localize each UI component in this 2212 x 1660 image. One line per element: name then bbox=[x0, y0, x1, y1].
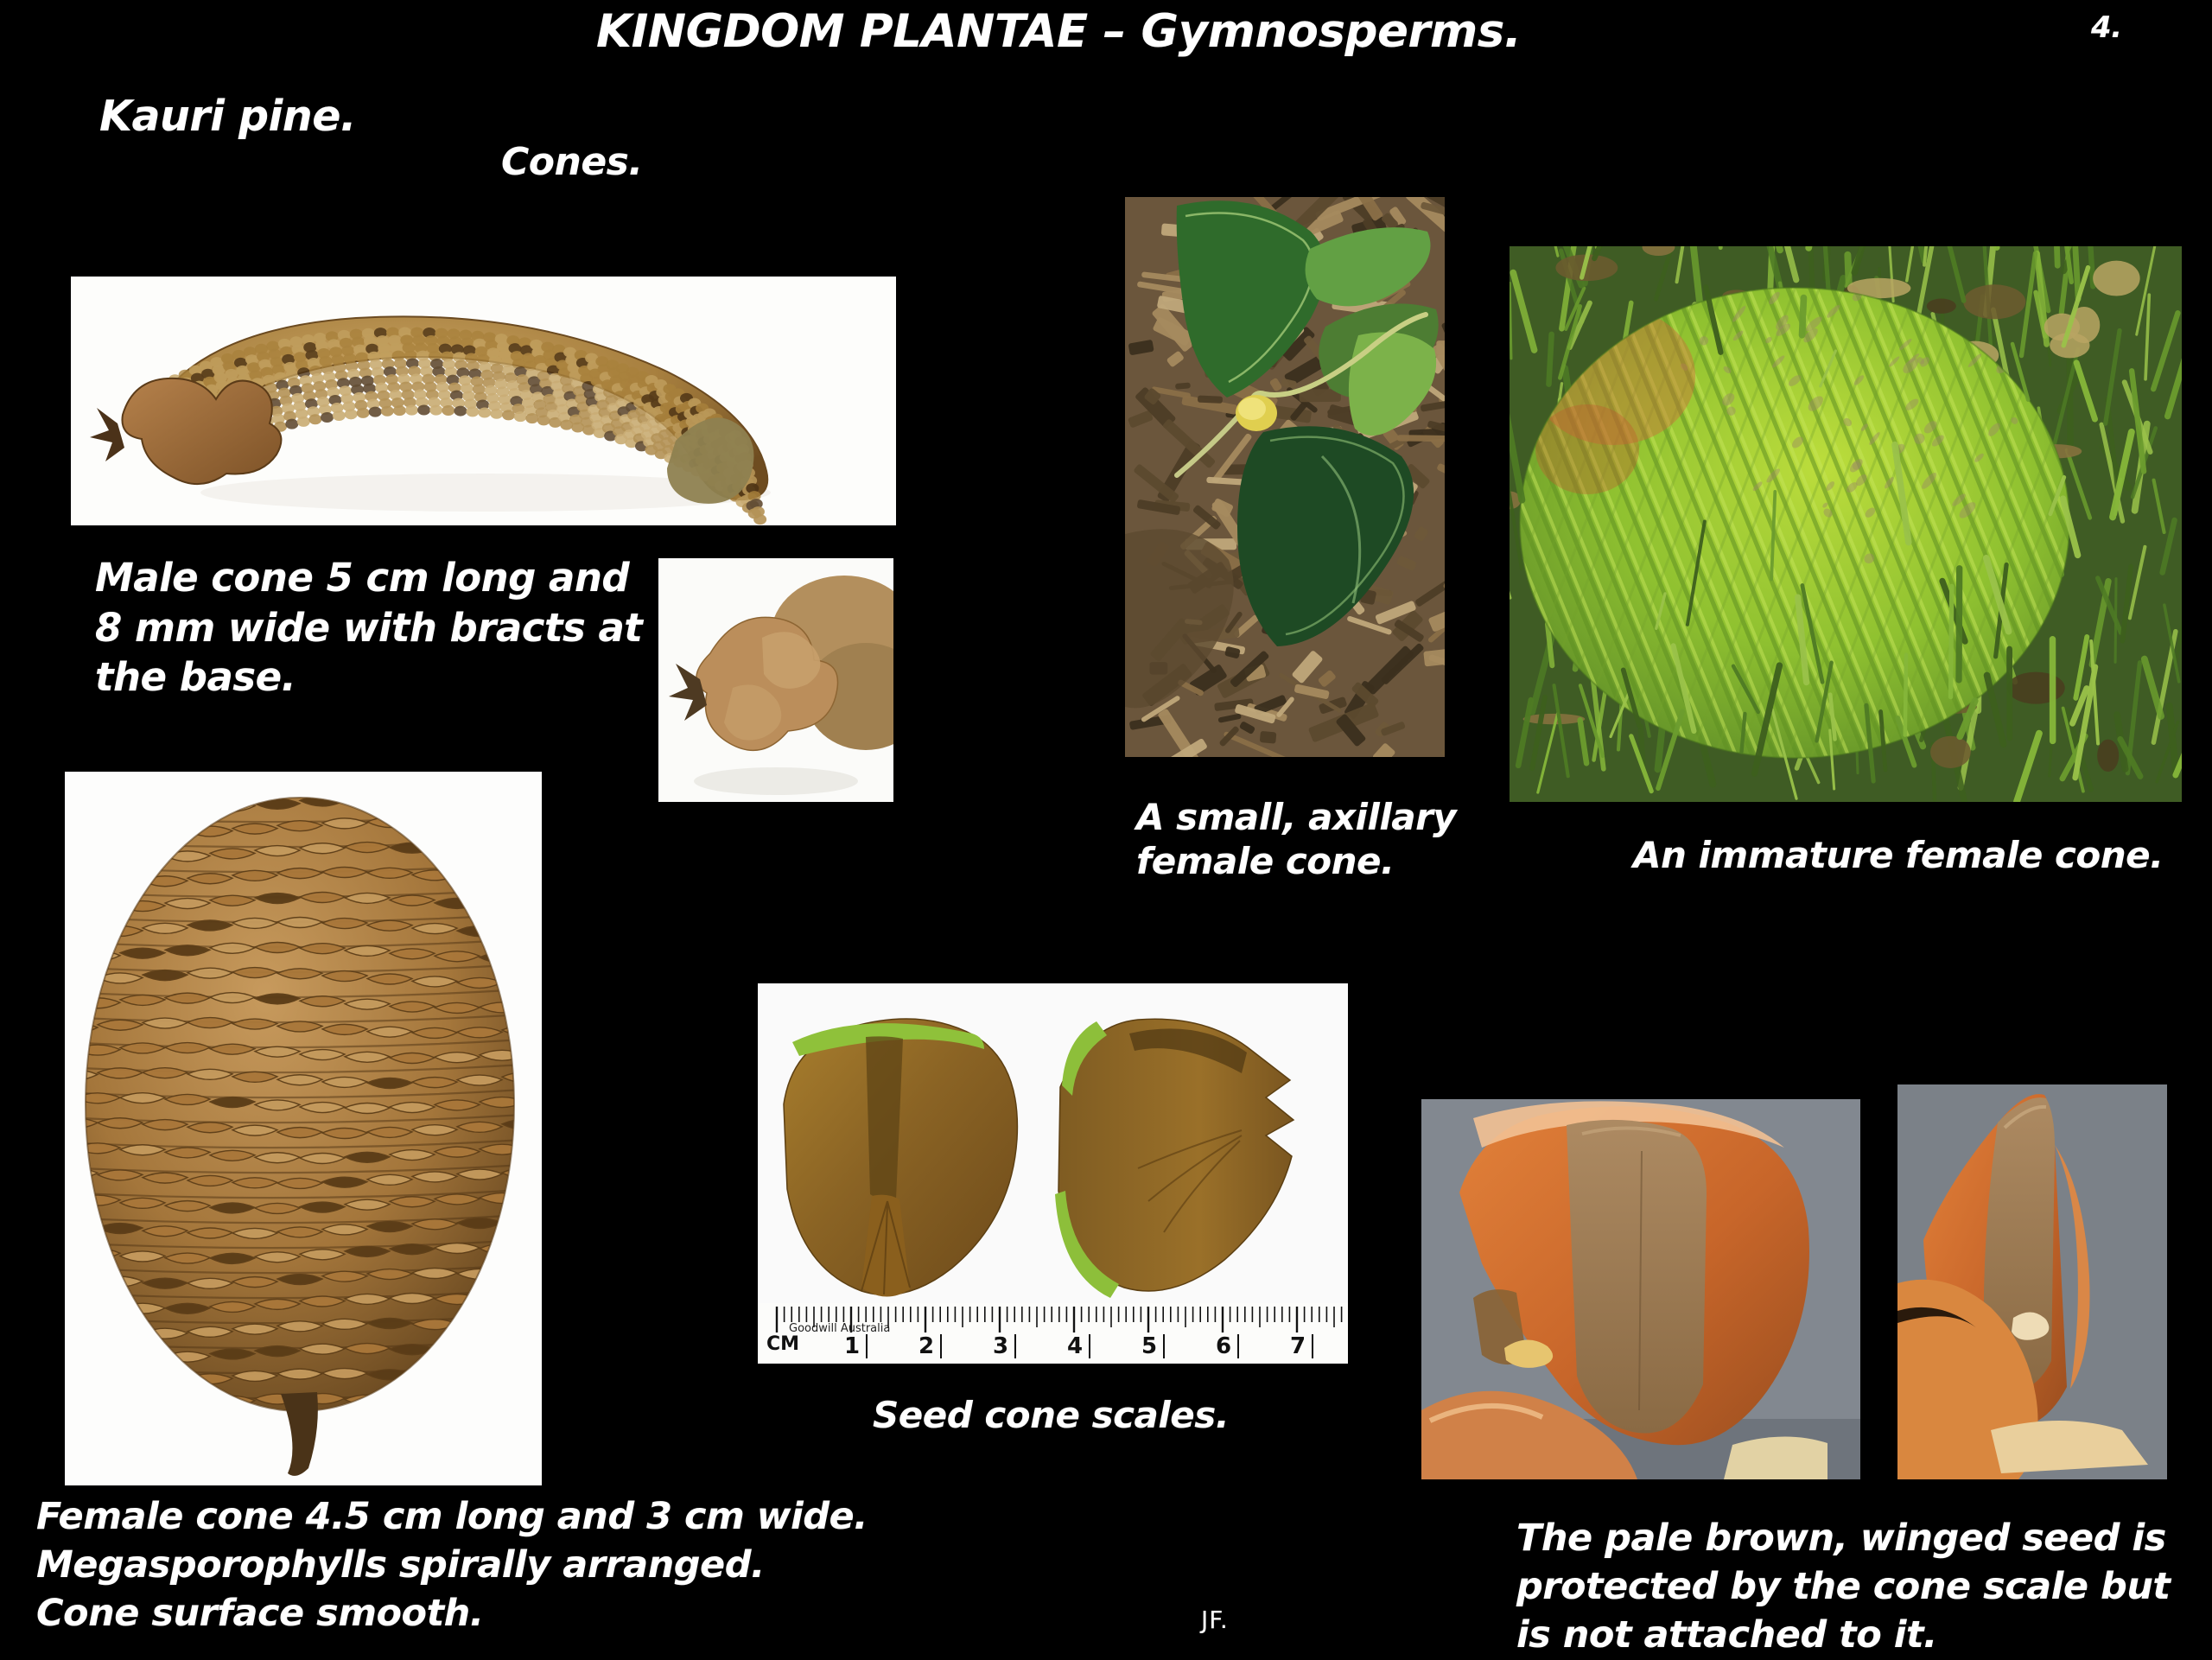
female-cone-illustration bbox=[65, 772, 542, 1485]
male-cone-illustration bbox=[71, 277, 896, 525]
photo-male-cone bbox=[71, 277, 896, 525]
ruler-tick-label: 1 bbox=[844, 1333, 860, 1359]
ruler-tick-label: 2 bbox=[918, 1333, 934, 1359]
winged-seed-front-illustration bbox=[1421, 1099, 1860, 1479]
caption-immature-cone: An immature female cone. bbox=[1633, 834, 2164, 877]
author-signature: JF. bbox=[1201, 1606, 1229, 1634]
subject-heading: Kauri pine. bbox=[99, 92, 356, 142]
seed-cone-scales-illustration: CM Goodwill Australia 1234567 bbox=[758, 983, 1348, 1364]
section-heading: Cones. bbox=[501, 140, 643, 185]
photo-immature-cone bbox=[1510, 246, 2182, 802]
axillary-cone-illustration bbox=[1125, 197, 1445, 757]
ruler-tick-label: 4 bbox=[1067, 1333, 1083, 1359]
photo-winged-seed-front bbox=[1421, 1099, 1860, 1479]
photo-winged-seed-side bbox=[1897, 1084, 2167, 1479]
photo-axillary-cone bbox=[1125, 197, 1445, 757]
bract-closeup-illustration bbox=[658, 558, 893, 802]
ruler-unit-label: CM bbox=[766, 1333, 799, 1355]
ruler-tick-label: 3 bbox=[993, 1333, 1008, 1359]
caption-seed-cone-scales: Seed cone scales. bbox=[873, 1394, 1229, 1437]
caption-female-cone: Female cone 4.5 cm long and 3 cm wide. M… bbox=[36, 1493, 868, 1638]
page-number: 4. bbox=[2091, 10, 2122, 45]
ruler-tick-label: 7 bbox=[1290, 1333, 1306, 1359]
immature-cone-illustration bbox=[1510, 246, 2182, 802]
caption-axillary-cone: A small, axillary female cone. bbox=[1136, 795, 1456, 883]
ruler-tick-label: 6 bbox=[1216, 1333, 1231, 1359]
winged-seed-side-illustration bbox=[1897, 1084, 2167, 1479]
photo-bract-closeup bbox=[658, 558, 893, 802]
slide-canvas: KINGDOM PLANTAE – Gymnosperms. 4. Kauri … bbox=[0, 0, 2212, 1659]
caption-male-cone: Male cone 5 cm long and 8 mm wide with b… bbox=[95, 553, 642, 703]
photo-female-cone bbox=[65, 772, 542, 1485]
caption-winged-seed: The pale brown, winged seed is protected… bbox=[1516, 1515, 2170, 1660]
ruler-tick-label: 5 bbox=[1141, 1333, 1157, 1359]
photo-seed-cone-scales: CM Goodwill Australia 1234567 bbox=[758, 983, 1348, 1364]
page-title: KINGDOM PLANTAE – Gymnosperms. bbox=[596, 5, 1521, 60]
ruler-brand-label: Goodwill Australia bbox=[789, 1322, 890, 1335]
